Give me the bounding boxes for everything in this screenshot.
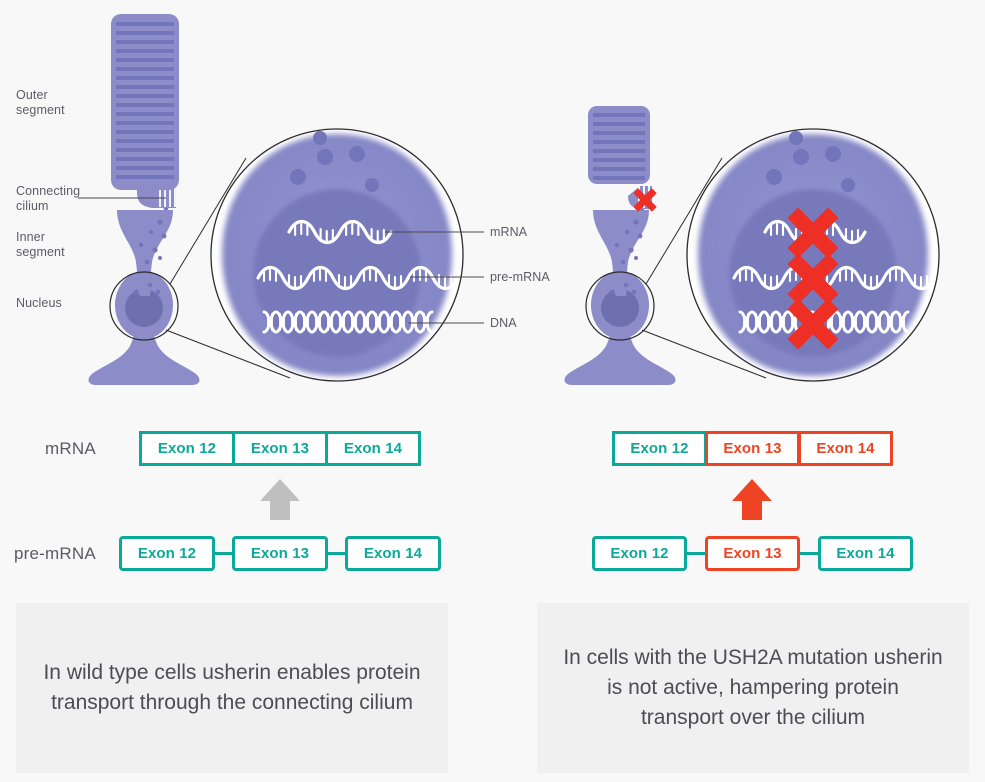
mutant-pre-mrna-connector-1 [687,552,705,555]
caption-text-mutant: In cells with the USH2A mutation usherin… [563,643,943,732]
mutant-pre-mrna-exon-12[interactable]: Exon 12 [592,536,687,571]
callout-label-mrna: mRNA [490,225,527,239]
wildtype-mrna-exon-14[interactable]: Exon 14 [325,431,421,466]
magnifier-mutant [687,129,939,381]
caption-text-wildtype: In wild type cells usherin enables prote… [42,658,422,718]
photoreceptor-cell-mutant [565,106,676,385]
magnifier-wildtype [211,129,463,381]
anatomy-label-connecting-cilium: Connecting cilium [16,184,80,214]
connecting-cilium-leader-line [78,196,166,200]
wildtype-pre-mrna-exon-12[interactable]: Exon 12 [119,536,215,571]
wildtype-pre-mrna-exon-14[interactable]: Exon 14 [345,536,441,571]
row-label-mrna: mRNA [45,439,96,459]
mutant-pre-mrna-exon-14[interactable]: Exon 14 [818,536,913,571]
caption-box-mutant: In cells with the USH2A mutation usherin… [537,603,969,773]
caption-box-wildtype: In wild type cells usherin enables prote… [16,603,448,773]
up-arrow-icon-mutant [732,479,772,520]
wildtype-pre-mrna-connector-2 [328,552,345,555]
mutant-pre-mrna-connector-2 [800,552,818,555]
anatomy-label-nucleus: Nucleus [16,296,62,311]
mutant-mrna-exon-13[interactable]: Exon 13 [705,431,800,466]
anatomy-label-outer-segment: Outer segment [16,88,65,118]
mutant-mrna-exon-12[interactable]: Exon 12 [612,431,707,466]
mutant-pre-mrna-exon-13[interactable]: Exon 13 [705,536,800,571]
wildtype-pre-mrna-exon-13[interactable]: Exon 13 [232,536,328,571]
diagram-canvas: Outer segment Connecting cilium Inner se… [0,0,985,782]
up-arrow-icon-wildtype [260,479,300,520]
illustration-layer [0,0,985,600]
outer-segment-shape-mutant [588,106,650,184]
callout-label-pre-mrna: pre-mRNA [490,270,550,284]
wildtype-mrna-exon-13[interactable]: Exon 13 [232,431,328,466]
wildtype-pre-mrna-connector-1 [215,552,232,555]
callout-label-dna: DNA [490,316,517,330]
anatomy-label-inner-segment: Inner segment [16,230,65,260]
row-label-pre-mrna: pre-mRNA [14,544,96,564]
wildtype-mrna-exon-12[interactable]: Exon 12 [139,431,235,466]
mutant-mrna-exon-14[interactable]: Exon 14 [798,431,893,466]
